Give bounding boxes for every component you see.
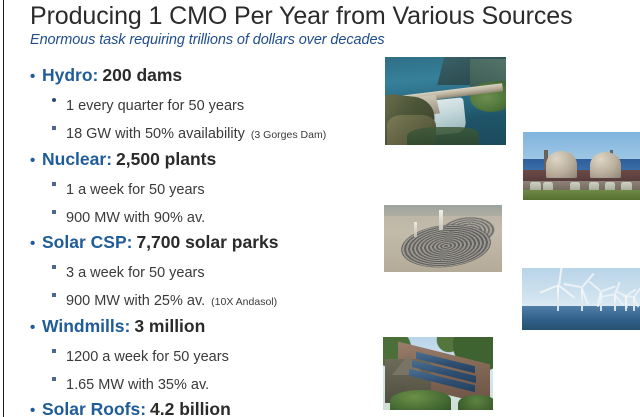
bullet-square-icon	[52, 284, 66, 305]
left-border-rule	[3, 0, 4, 417]
title-block: Producing 1 CMO Per Year from Various So…	[30, 2, 630, 50]
bullet-group-solar-roofs: •Solar Roofs:4.2 billion250k roofs a day…	[30, 397, 390, 417]
bullet-group-solar-csp: •Solar CSP:7,700 solar parks3 a week for…	[30, 230, 390, 313]
bullet-content: •Hydro:200 dams1 every quarter for 50 ye…	[30, 63, 390, 417]
bullet-level1-windmills: •Windmills:3 million	[30, 314, 390, 340]
bullet-sub-note: (3 Gorges Dam)	[251, 125, 326, 146]
bullet-sub-text: 18 GW with 50% availability	[66, 124, 245, 145]
bullet-square-icon	[52, 201, 66, 222]
page-title: Producing 1 CMO Per Year from Various So…	[30, 2, 630, 30]
bullet-level1-solar-csp: •Solar CSP:7,700 solar parks	[30, 230, 390, 256]
wind-turbines-photo	[522, 268, 640, 330]
bullet-level2-windmills-1: 1.65 MW with 35% av.	[52, 368, 390, 396]
bullet-group-windmills: •Windmills:3 million1200 a week for 50 y…	[30, 314, 390, 396]
bullet-head-hydro: Hydro:	[42, 63, 98, 88]
bullet-square-icon	[52, 256, 66, 277]
bullet-level2-solar-csp-1: 900 MW with 25% av.(10X Andasol)	[52, 284, 390, 313]
bullet-head-solar-roofs: Solar Roofs:	[42, 397, 146, 417]
bullet-sub-text: 3 a week for 50 years	[66, 263, 205, 284]
bullet-level2-windmills-0: 1200 a week for 50 years	[52, 340, 390, 368]
bullet-head-nuclear: Nuclear:	[42, 147, 112, 172]
bullet-dot-icon	[52, 89, 66, 110]
bullet-square-icon	[52, 117, 66, 138]
nuclear-plant-photo	[523, 132, 640, 200]
bullet-level2-hydro-0: 1 every quarter for 50 years	[52, 89, 390, 117]
bullet-value-nuclear: 2,500 plants	[116, 147, 216, 172]
bullet-sub-text: 900 MW with 90% av.	[66, 208, 205, 229]
solar-roof-house-photo	[383, 337, 493, 410]
bullet-level1-nuclear: •Nuclear:2,500 plants	[30, 147, 390, 173]
hydroelectric-dam-photo	[385, 57, 506, 145]
bullet-group-nuclear: •Nuclear:2,500 plants1 a week for 50 yea…	[30, 147, 390, 229]
solar-csp-plant-photo	[384, 205, 502, 272]
bullet-square-icon	[52, 368, 66, 389]
page-subtitle: Enormous task requiring trillions of dol…	[30, 31, 630, 50]
bullet-dot-icon: •	[30, 398, 42, 417]
bullet-dot-icon: •	[30, 231, 42, 256]
bullet-sub-note: (10X Andasol)	[211, 292, 277, 313]
bullet-value-solar-csp: 7,700 solar parks	[136, 230, 278, 255]
bullet-group-hydro: •Hydro:200 dams1 every quarter for 50 ye…	[30, 63, 390, 146]
bullet-sub-text: 1.65 MW with 35% av.	[66, 375, 209, 396]
bullet-sub-text: 900 MW with 25% av.	[66, 291, 205, 312]
bullet-head-windmills: Windmills:	[42, 314, 130, 339]
bullet-value-solar-roofs: 4.2 billion	[150, 397, 231, 417]
bullet-level2-nuclear-1: 900 MW with 90% av.	[52, 201, 390, 229]
bullet-sub-text: 1200 a week for 50 years	[66, 347, 229, 368]
wind-turbine-mast	[557, 285, 559, 311]
bullet-level2-hydro-1: 18 GW with 50% availability(3 Gorges Dam…	[52, 117, 390, 146]
bullet-level2-solar-csp-0: 3 a week for 50 years	[52, 256, 390, 284]
bullet-sub-text: 1 every quarter for 50 years	[66, 96, 244, 117]
bullet-square-icon	[52, 340, 66, 361]
bullet-dot-icon: •	[30, 315, 42, 340]
bullet-level2-nuclear-0: 1 a week for 50 years	[52, 173, 390, 201]
bullet-level1-solar-roofs: •Solar Roofs:4.2 billion	[30, 397, 390, 417]
bullet-head-solar-csp: Solar CSP:	[42, 230, 132, 255]
bullet-level1-hydro: •Hydro:200 dams	[30, 63, 390, 89]
bullet-value-windmills: 3 million	[134, 314, 205, 339]
slide: Producing 1 CMO Per Year from Various So…	[0, 0, 640, 417]
bullet-sub-text: 1 a week for 50 years	[66, 180, 205, 201]
bullet-dot-icon: •	[30, 148, 42, 173]
bullet-square-icon	[52, 173, 66, 194]
bullet-dot-icon: •	[30, 64, 42, 89]
bullet-value-hydro: 200 dams	[102, 63, 182, 88]
